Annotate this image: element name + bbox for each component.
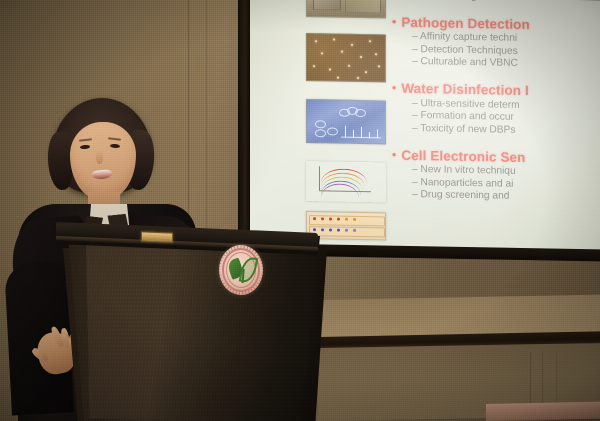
slide-section-0: – Tandem mass spectro – Protein-drug int…	[392, 0, 600, 4]
water-chemistry-thumbnail	[306, 99, 386, 144]
projection-screen: – Tandem mass spectro – Protein-drug int…	[250, 0, 600, 253]
bullet-dot-icon: •	[392, 147, 396, 162]
slide-section-1: • Pathogen Detection – Affinity capture …	[392, 14, 600, 71]
slide-subbullet-text: – Affinity capture techni	[412, 31, 517, 44]
dose-response-chart-thumbnail	[306, 161, 386, 202]
slide-subbullet-text: – Culturable and VBNC	[412, 56, 518, 69]
screen-frame-left	[238, 0, 250, 254]
slide-subbullet-text: – Ultra-sensitive determ	[412, 97, 520, 110]
slide-subbullet-text: – Drug screening and	[412, 189, 509, 202]
bullet-dot-icon: •	[392, 14, 396, 29]
slide-section-3: • Cell Electronic Sen – New In vitro tec…	[392, 147, 600, 204]
presentation-photo: – Tandem mass spectro – Protein-drug int…	[0, 0, 600, 421]
presentation-slide: – Tandem mass spectro – Protein-drug int…	[250, 0, 600, 253]
bullet-dot-icon: •	[392, 81, 396, 96]
podium-wood-grain	[40, 236, 330, 421]
instrument-photo-thumbnail	[306, 0, 386, 18]
speaker-nose	[96, 150, 103, 164]
slide-subbullet-text: – Formation and occur	[412, 110, 514, 123]
slide-subbullet-text: – Nanoparticles and ai	[412, 176, 513, 189]
slide-heading-text: Water Disinfection I	[401, 81, 529, 98]
slide-subbullet-text: – Protein-drug interacti	[412, 0, 515, 2]
slide-subbullet: – Culturable and VBNC	[392, 56, 600, 71]
slide-subbullet: – Toxicity of new DBPs	[392, 122, 600, 137]
slide-subbullet-text: – Detection Techniques	[412, 43, 518, 56]
slide-subbullet: – Drug screening and	[392, 189, 600, 204]
table-edge	[486, 402, 600, 421]
slide-heading-text: Cell Electronic Sen	[401, 147, 525, 164]
slide-thumbnail-column	[306, 0, 384, 240]
slide-subbullet-text: – New In vitro techniqu	[412, 164, 516, 177]
podium-nameplate	[141, 231, 173, 242]
slide-section-2: • Water Disinfection I – Ultra-sensitive…	[392, 81, 600, 138]
slide-subbullet: – Protein-drug interacti	[392, 0, 600, 4]
micrograph-thumbnail	[306, 33, 386, 82]
slide-text-column: – Tandem mass spectro – Protein-drug int…	[392, 0, 600, 204]
slide-subbullet-text: – Toxicity of new DBPs	[412, 122, 515, 135]
slide-heading-text: Pathogen Detection	[401, 14, 530, 31]
